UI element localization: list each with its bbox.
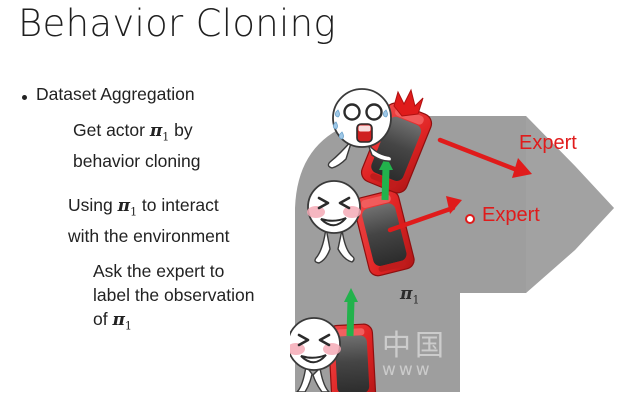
bullet-dot-icon bbox=[22, 95, 27, 100]
bullet-dataset-aggregation: Dataset Aggregation bbox=[22, 84, 195, 105]
step-2-line-1-pre: Using bbox=[68, 195, 118, 215]
step-2-line-1: Using π1 to interact bbox=[68, 193, 229, 224]
expert-label-top: Expert bbox=[519, 132, 577, 155]
expert-marker-icon bbox=[465, 214, 475, 224]
step-3-line-1: Ask the expert to bbox=[93, 259, 255, 283]
step-3-line-3: of π1 bbox=[93, 307, 255, 338]
step-get-actor: Get actor π1 by behavior cloning bbox=[73, 118, 200, 173]
pi-subscript: 1 bbox=[125, 319, 132, 332]
slide-canvas: Behavior Cloning Dataset Aggregation Get… bbox=[0, 0, 619, 404]
pi-glyph: π bbox=[150, 121, 162, 141]
pi-glyph: π bbox=[112, 310, 124, 330]
step-1-line-1-pre: Get actor bbox=[73, 120, 150, 140]
pi-subscript: 1 bbox=[412, 293, 419, 306]
expert-label-middle: Expert bbox=[482, 204, 540, 227]
pi-subscript: 1 bbox=[130, 205, 137, 218]
pi-glyph: π bbox=[400, 284, 412, 304]
pi-symbol: π1 bbox=[118, 196, 137, 216]
driving-scenario-diagram: Expert Expert π1 中国 www bbox=[290, 88, 619, 392]
pi-glyph: π bbox=[118, 196, 130, 216]
pi-symbol: π1 bbox=[112, 310, 131, 330]
step-1-line-2: behavior cloning bbox=[73, 149, 200, 173]
step-1-line-1-post: by bbox=[169, 120, 192, 140]
policy-label: π1 bbox=[400, 284, 419, 306]
bullet-label: Dataset Aggregation bbox=[36, 84, 195, 105]
step-2-line-1-post: to interact bbox=[137, 195, 219, 215]
step-using-policy: Using π1 to interact with the environmen… bbox=[68, 193, 229, 248]
pi-symbol: π1 bbox=[400, 284, 419, 304]
page-title: Behavior Cloning bbox=[18, 2, 336, 45]
step-1-line-1: Get actor π1 by bbox=[73, 118, 200, 149]
step-3-line-2: label the observation bbox=[93, 283, 255, 307]
step-ask-expert: Ask the expert to label the observation … bbox=[93, 259, 255, 338]
pi-symbol: π1 bbox=[150, 121, 169, 141]
step-3-line-3-pre: of bbox=[93, 309, 112, 329]
step-2-line-2: with the environment bbox=[68, 224, 229, 248]
